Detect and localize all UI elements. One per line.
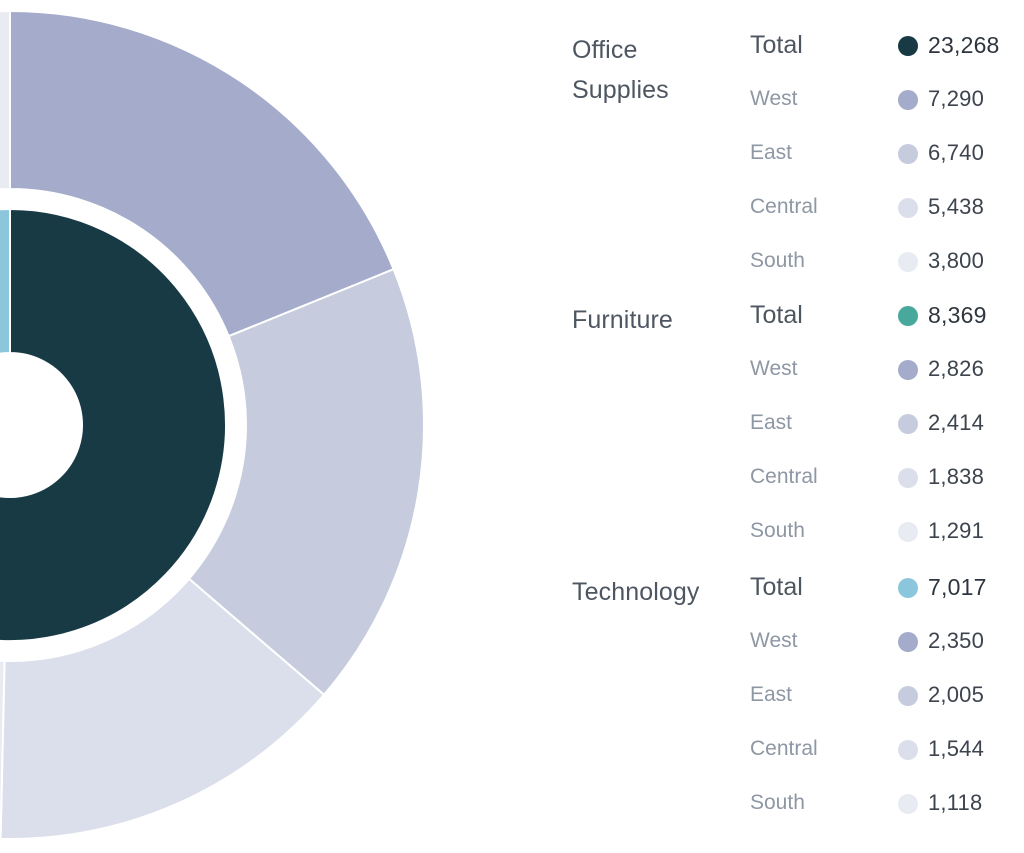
- legend-value: 2,826: [928, 354, 984, 384]
- legend-category-label: Furniture: [572, 300, 742, 340]
- legend-region-label: West: [750, 84, 797, 114]
- legend-row[interactable]: East2,414: [750, 408, 1024, 462]
- legend-row[interactable]: Total7,017: [750, 572, 1024, 626]
- legend-color-dot-icon: [898, 306, 918, 326]
- legend-region-label: Total: [750, 572, 803, 602]
- legend-region-label: Central: [750, 462, 818, 492]
- legend-color-dot-icon: [898, 36, 918, 56]
- legend-region-label: East: [750, 408, 792, 438]
- legend-row[interactable]: Central5,438: [750, 192, 1024, 246]
- legend-color-dot-icon: [898, 360, 918, 380]
- legend-category-label: Office Supplies: [572, 30, 742, 110]
- legend-value: 5,438: [928, 192, 984, 222]
- legend-color-dot-icon: [898, 144, 918, 164]
- legend-row[interactable]: Total23,268: [750, 30, 1024, 84]
- sunburst-inner-slice-technology[interactable]: [0, 209, 10, 395]
- legend-row[interactable]: Central1,838: [750, 462, 1024, 516]
- legend-row[interactable]: South3,800: [750, 246, 1024, 300]
- legend-color-dot-icon: [898, 252, 918, 272]
- legend-color-dot-icon: [898, 686, 918, 706]
- legend-color-dot-icon: [898, 794, 918, 814]
- legend-color-dot-icon: [898, 90, 918, 110]
- legend-region-label: West: [750, 354, 797, 384]
- legend-region-label: South: [750, 788, 805, 818]
- legend-color-dot-icon: [898, 414, 918, 434]
- legend-value: 6,740: [928, 138, 984, 168]
- legend-color-dot-icon: [898, 468, 918, 488]
- sunburst-chart-page: Office SuppliesTotal23,268West7,290East6…: [0, 0, 1024, 853]
- legend-region-label: East: [750, 138, 792, 168]
- sunburst-svg: [0, 0, 470, 853]
- legend-category-label: Technology: [572, 572, 742, 612]
- legend-value: 7,017: [928, 572, 987, 602]
- legend-region-label: Central: [750, 192, 818, 222]
- legend-region-label: Central: [750, 734, 818, 764]
- legend-value: 2,350: [928, 626, 984, 656]
- legend-value: 23,268: [928, 30, 1000, 60]
- legend-color-dot-icon: [898, 522, 918, 542]
- legend-value: 1,544: [928, 734, 984, 764]
- legend-region-label: South: [750, 246, 805, 276]
- legend-color-dot-icon: [898, 740, 918, 760]
- legend-rows: Total23,268West7,290East6,740Central5,43…: [750, 30, 1024, 300]
- legend-row[interactable]: West2,350: [750, 626, 1024, 680]
- legend-region-label: East: [750, 680, 792, 710]
- sunburst-chart: [0, 0, 470, 853]
- legend-row[interactable]: West2,826: [750, 354, 1024, 408]
- legend-region-label: South: [750, 516, 805, 546]
- chart-legend: Office SuppliesTotal23,268West7,290East6…: [560, 0, 1024, 853]
- legend-region-label: Total: [750, 30, 803, 60]
- legend-row[interactable]: East6,740: [750, 138, 1024, 192]
- legend-row[interactable]: Total8,369: [750, 300, 1024, 354]
- legend-value: 2,005: [928, 680, 984, 710]
- legend-color-dot-icon: [898, 632, 918, 652]
- legend-value: 1,291: [928, 516, 984, 546]
- sunburst-outer-slice-technology-south[interactable]: [0, 11, 10, 193]
- legend-row[interactable]: East2,005: [750, 680, 1024, 734]
- legend-row[interactable]: Central1,544: [750, 734, 1024, 788]
- legend-region-label: Total: [750, 300, 803, 330]
- legend-rows: Total8,369West2,826East2,414Central1,838…: [750, 300, 1024, 570]
- legend-row[interactable]: South1,291: [750, 516, 1024, 570]
- legend-color-dot-icon: [898, 578, 918, 598]
- legend-color-dot-icon: [898, 198, 918, 218]
- legend-value: 7,290: [928, 84, 984, 114]
- legend-value: 2,414: [928, 408, 984, 438]
- legend-value: 1,838: [928, 462, 984, 492]
- legend-row[interactable]: West7,290: [750, 84, 1024, 138]
- legend-region-label: West: [750, 626, 797, 656]
- legend-value: 3,800: [928, 246, 984, 276]
- legend-row[interactable]: South1,118: [750, 788, 1024, 842]
- legend-rows: Total7,017West2,350East2,005Central1,544…: [750, 572, 1024, 842]
- legend-value: 8,369: [928, 300, 987, 330]
- legend-value: 1,118: [928, 788, 982, 818]
